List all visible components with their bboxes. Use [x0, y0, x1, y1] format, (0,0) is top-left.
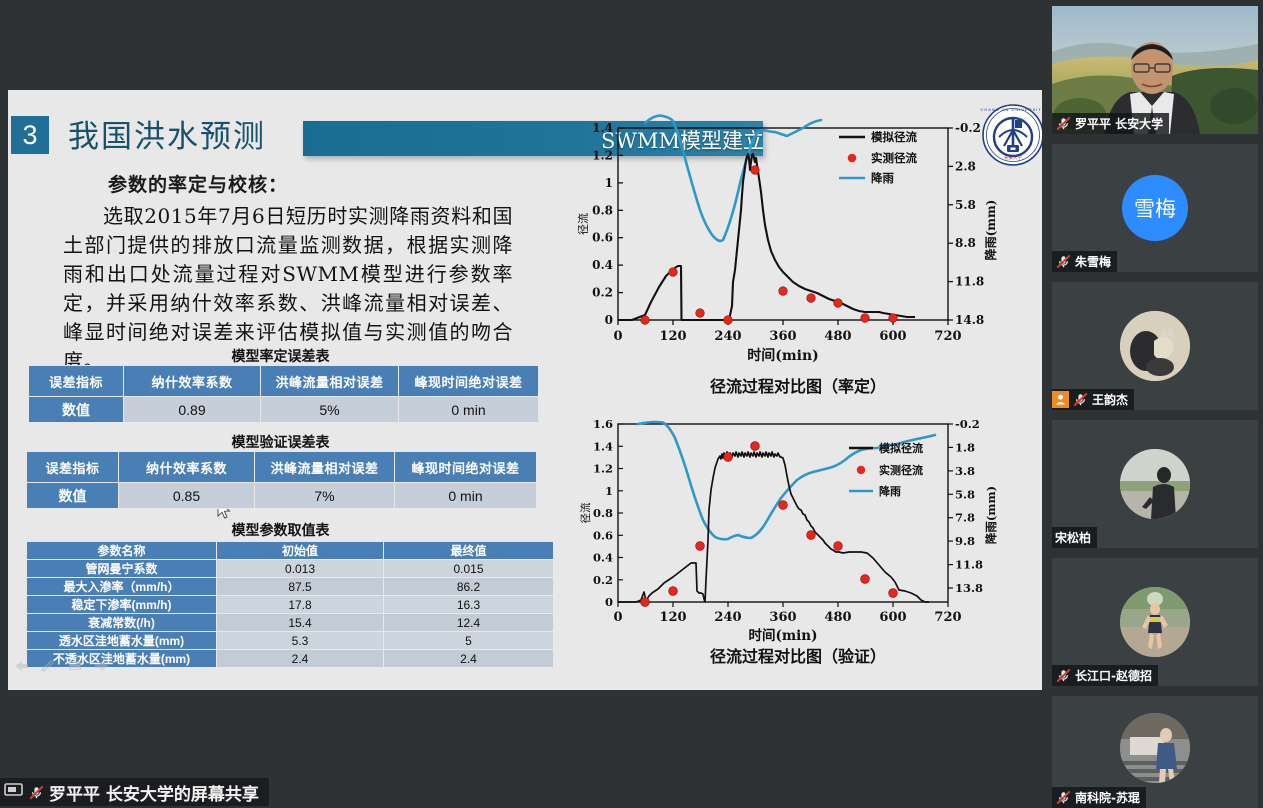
calibration-chart-title: 径流过程对比图（率定）: [563, 373, 1033, 397]
svg-text:0.6: 0.6: [592, 231, 613, 245]
participant-tile[interactable]: 雪梅 朱雪梅: [1052, 144, 1258, 272]
validation-chart-title: 径流过程对比图（验证）: [563, 643, 1033, 667]
final-value: 12.4: [384, 614, 554, 632]
svg-text:-0.2: -0.2: [955, 417, 980, 431]
svg-text:降雨(mm): 降雨(mm): [983, 200, 998, 261]
table-row: 数值 0.89 5% 0 min: [29, 397, 539, 423]
svg-text:1.6: 1.6: [593, 417, 613, 431]
svg-text:11.8: 11.8: [955, 275, 984, 289]
model-parameter-table: 参数名称 初始值 最终值 管网曼宁系数0.0130.015 最大入渗率（mm/h…: [26, 541, 554, 668]
svg-text:9.8: 9.8: [955, 534, 975, 548]
final-value: 0.015: [384, 560, 554, 578]
presentation-slide: 3 我国洪水预测 SWMM模型建立 长安大学 CHANG AN UNIVERSI…: [8, 90, 1042, 690]
table-header-row: 误差指标 纳什效率系数 洪峰流量相对误差 峰现时间绝对误差: [29, 366, 539, 397]
avatar: [1120, 713, 1190, 783]
subsection-heading: 参数的率定与校核：: [108, 170, 288, 197]
table-row: 数值 0.85 7% 0 min: [27, 483, 537, 509]
avatar: [1120, 449, 1190, 519]
svg-text:0: 0: [613, 610, 622, 625]
svg-text:240: 240: [714, 610, 741, 625]
column-header: 峰现时间绝对误差: [399, 366, 539, 397]
svg-text:600: 600: [879, 610, 906, 625]
svg-text:实测径流: 实测径流: [879, 463, 923, 477]
table-row: 衰减常数(/h)15.412.4: [27, 614, 554, 632]
svg-text:120: 120: [659, 610, 686, 625]
svg-text:7.8: 7.8: [955, 511, 975, 525]
column-header: 误差指标: [27, 452, 119, 483]
avatar-initials: 雪梅: [1134, 193, 1176, 223]
validation-chart: 1.6 1.4 1.2 1 0.8 0.6 0.4 0.2 0: [563, 410, 1033, 650]
participant-name: 宋松柏: [1055, 529, 1091, 546]
svg-text:1.4: 1.4: [592, 121, 613, 135]
calibration-chart-svg: 1.4 1.2 1 0.8 0.6 0.4 0.2 0: [563, 110, 1033, 380]
svg-text:0.8: 0.8: [592, 203, 613, 217]
mic-off-icon: [28, 785, 45, 800]
parameter-name: 最大入渗率（mm/h）: [27, 578, 217, 596]
calibration-chart: 1.4 1.2 1 0.8 0.6 0.4 0.2 0: [563, 110, 1033, 380]
svg-text:时间(min): 时间(min): [748, 627, 817, 644]
parameter-table-body: 管网曼宁系数0.0130.015 最大入渗率（mm/h）87.586.2 稳定下…: [27, 560, 554, 668]
screen-share-banner: 罗平平 长安大学的屏幕共享: [0, 778, 269, 806]
svg-text:480: 480: [824, 329, 851, 344]
svg-text:1.2: 1.2: [592, 148, 613, 162]
avatar: 雪梅: [1122, 175, 1188, 241]
svg-text:120: 120: [659, 329, 686, 344]
svg-text:1.4: 1.4: [593, 439, 613, 453]
svg-text:360: 360: [769, 610, 796, 625]
svg-text:0: 0: [613, 329, 622, 344]
svg-text:降雨(mm): 降雨(mm): [984, 486, 998, 544]
initial-value: 0.013: [217, 560, 384, 578]
svg-text:3.8: 3.8: [955, 464, 975, 478]
initial-value: 17.8: [217, 596, 384, 614]
final-value: 86.2: [384, 578, 554, 596]
svg-text:5.8: 5.8: [955, 487, 975, 501]
svg-text:0.4: 0.4: [593, 551, 613, 565]
svg-text:8.8: 8.8: [955, 236, 976, 250]
svg-text:0.4: 0.4: [592, 258, 613, 272]
svg-text:0.2: 0.2: [592, 286, 613, 300]
participant-tile[interactable]: 长江口-赵德招: [1052, 558, 1258, 686]
participant-rail[interactable]: 罗平平 长安大学 雪梅 朱雪梅: [1046, 0, 1263, 808]
host-badge-icon: [1052, 391, 1069, 408]
participant-name: 罗平平 长安大学: [1075, 115, 1163, 132]
slideshow-nav-bar[interactable]: [13, 659, 110, 672]
table-cell: 5%: [261, 397, 399, 423]
svg-text:模拟径流: 模拟径流: [879, 441, 923, 455]
svg-text:实测径流: 实测径流: [871, 151, 917, 165]
svg-text:11.8: 11.8: [955, 558, 983, 572]
participant-name: 朱雪梅: [1075, 253, 1111, 270]
column-header: 最终值: [384, 542, 554, 560]
table-row: 透水区洼地蓄水量(mm)5.35: [27, 632, 554, 650]
mic-off-icon: [1055, 790, 1072, 805]
participant-namebar: 宋松柏: [1052, 527, 1097, 548]
svg-text:1.8: 1.8: [955, 440, 975, 454]
svg-text:720: 720: [934, 610, 961, 625]
validation-error-table: 误差指标 纳什效率系数 洪峰流量相对误差 峰现时间绝对误差 数值 0.85 7%…: [26, 451, 537, 509]
table-header-row: 参数名称 初始值 最终值: [27, 542, 554, 560]
final-value: 5: [384, 632, 554, 650]
participant-tile[interactable]: 南科院-苏琨: [1052, 696, 1258, 808]
initial-value: 15.4: [217, 614, 384, 632]
svg-text:13.8: 13.8: [955, 581, 983, 595]
svg-text:1: 1: [605, 176, 613, 190]
table-row: 管网曼宁系数0.0130.015: [27, 560, 554, 578]
svg-text:径流: 径流: [576, 213, 590, 235]
chart-legend: 模拟径流 实测径流 降雨: [839, 130, 917, 185]
section-number-badge: 3: [11, 116, 49, 154]
table-row: 稳定下渗率(mm/h)17.816.3: [27, 596, 554, 614]
svg-text:600: 600: [879, 329, 906, 344]
column-header: 洪峰流量相对误差: [261, 366, 399, 397]
participant-tile[interactable]: 宋松柏: [1052, 420, 1258, 548]
column-header: 参数名称: [27, 542, 217, 560]
svg-text:0.8: 0.8: [593, 506, 613, 520]
initial-value: 87.5: [217, 578, 384, 596]
column-header: 纳什效率系数: [119, 452, 255, 483]
validation-table-caption: 模型验证误差表: [8, 432, 553, 452]
next-slide-icon[interactable]: [94, 659, 110, 672]
column-header: 误差指标: [29, 366, 124, 397]
mic-off-icon: [1072, 392, 1089, 407]
participant-namebar: 长江口-赵德招: [1052, 665, 1158, 686]
screen-share-icon: [4, 782, 24, 803]
svg-text:480: 480: [824, 610, 851, 625]
svg-text:240: 240: [714, 329, 741, 344]
menu-icon[interactable]: [67, 659, 83, 672]
prev-slide-icon[interactable]: [13, 659, 29, 672]
svg-text:14.8: 14.8: [955, 313, 984, 327]
screen-share-label: 罗平平 长安大学的屏幕共享: [49, 780, 259, 805]
row-header: 数值: [27, 483, 119, 509]
calibration-error-table: 误差指标 纳什效率系数 洪峰流量相对误差 峰现时间绝对误差 数值 0.89 5%…: [28, 365, 539, 423]
svg-text:0.6: 0.6: [593, 528, 613, 542]
initial-value: 2.4: [217, 650, 384, 668]
participant-name: 长江口-赵德招: [1075, 667, 1152, 684]
participant-namebar: 南科院-苏琨: [1052, 787, 1146, 808]
parameter-table-caption: 模型参数取值表: [8, 520, 553, 540]
participant-namebar: 罗平平 长安大学: [1052, 113, 1169, 134]
pen-icon[interactable]: [40, 659, 56, 672]
svg-text:降雨: 降雨: [871, 171, 894, 185]
final-value: 2.4: [384, 650, 554, 668]
svg-text:2.8: 2.8: [955, 159, 976, 173]
parameter-name: 透水区洼地蓄水量(mm): [27, 632, 217, 650]
svg-text:时间(min): 时间(min): [747, 347, 819, 364]
participant-name: 南科院-苏琨: [1075, 789, 1140, 806]
svg-text:0: 0: [605, 313, 613, 327]
page-title: 我国洪水预测: [68, 111, 266, 156]
column-header: 洪峰流量相对误差: [255, 452, 395, 483]
initial-value: 5.3: [217, 632, 384, 650]
svg-text:0: 0: [605, 595, 613, 609]
parameter-name: 稳定下渗率(mm/h): [27, 596, 217, 614]
participant-namebar: 朱雪梅: [1052, 251, 1117, 272]
mic-off-icon: [1055, 116, 1072, 131]
table-cell: 0.89: [124, 397, 261, 423]
participant-name: 王韵杰: [1092, 391, 1128, 408]
svg-text:1: 1: [605, 484, 613, 498]
table-header-row: 误差指标 纳什效率系数 洪峰流量相对误差 峰现时间绝对误差: [27, 452, 537, 483]
table-cell: 0 min: [395, 483, 537, 509]
svg-text:降雨: 降雨: [879, 484, 901, 498]
svg-text:径流: 径流: [579, 502, 592, 523]
svg-text:0.2: 0.2: [593, 573, 613, 587]
participant-namebar: 王韵杰: [1052, 389, 1134, 410]
parameter-name: 管网曼宁系数: [27, 560, 217, 578]
svg-text:360: 360: [769, 329, 796, 344]
table-cell: 0.85: [119, 483, 255, 509]
svg-text:-0.2: -0.2: [955, 121, 981, 135]
table-cell: 0 min: [399, 397, 539, 423]
column-header: 峰现时间绝对误差: [395, 452, 537, 483]
mic-off-icon: [1055, 668, 1072, 683]
app-root: 3 我国洪水预测 SWMM模型建立 长安大学 CHANG AN UNIVERSI…: [0, 0, 1263, 808]
avatar: [1120, 311, 1190, 381]
row-header: 数值: [29, 397, 124, 423]
mic-off-icon: [1055, 254, 1072, 269]
screen-share-stage: 3 我国洪水预测 SWMM模型建立 长安大学 CHANG AN UNIVERSI…: [0, 0, 1046, 808]
validation-chart-svg: 1.6 1.4 1.2 1 0.8 0.6 0.4 0.2 0: [563, 410, 1033, 650]
column-header: 初始值: [217, 542, 384, 560]
participant-tile[interactable]: 罗平平 长安大学: [1052, 6, 1258, 134]
parameter-name: 衰减常数(/h): [27, 614, 217, 632]
participant-tile[interactable]: 王韵杰: [1052, 282, 1258, 410]
table-row: 最大入渗率（mm/h）87.586.2: [27, 578, 554, 596]
avatar: [1120, 587, 1190, 657]
table-cell: 7%: [255, 483, 395, 509]
final-value: 16.3: [384, 596, 554, 614]
svg-text:5.8: 5.8: [955, 198, 976, 212]
column-header: 纳什效率系数: [124, 366, 261, 397]
svg-text:模拟径流: 模拟径流: [871, 130, 917, 144]
svg-text:1.2: 1.2: [593, 462, 613, 476]
calibration-table-caption: 模型率定误差表: [8, 346, 553, 366]
svg-text:720: 720: [934, 329, 961, 344]
